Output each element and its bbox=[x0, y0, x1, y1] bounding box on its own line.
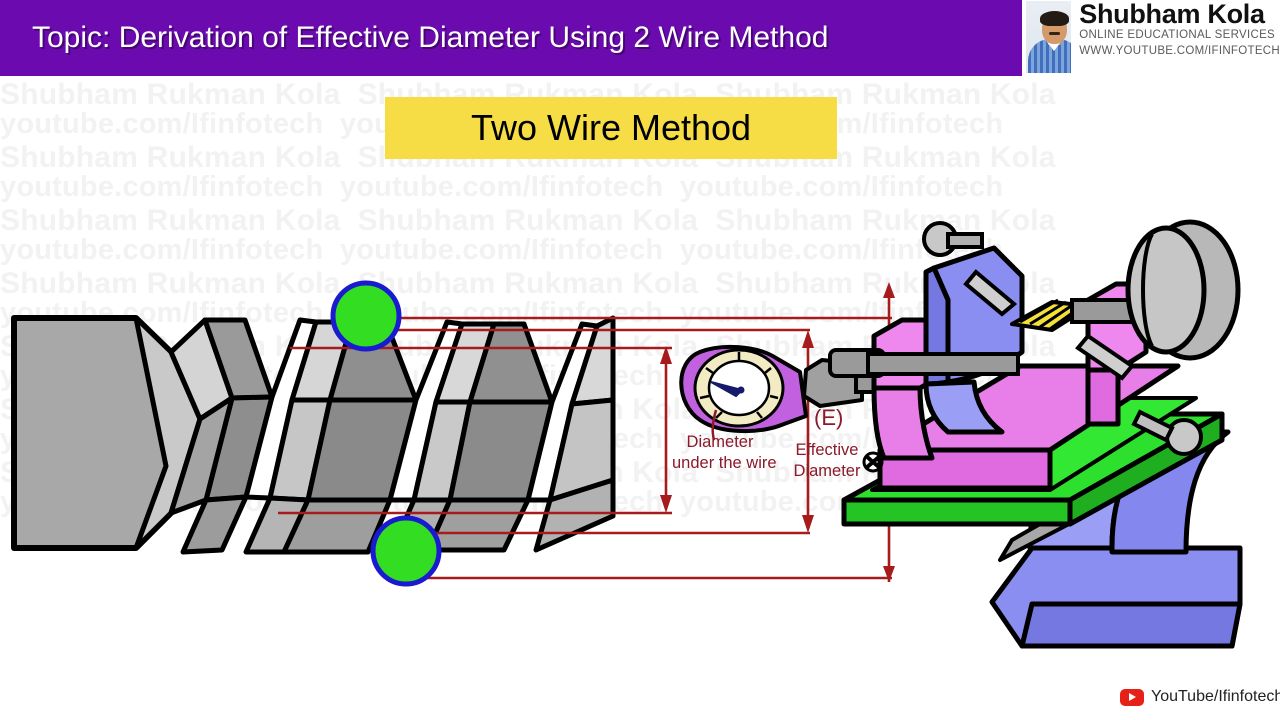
youtube-play-icon bbox=[1120, 689, 1144, 706]
gauge-needle-pivot bbox=[738, 387, 745, 394]
topic-header-bar: Topic: Derivation of Effective Diameter … bbox=[0, 0, 1022, 76]
dimension-label-effective-diameter: Effective Diameter bbox=[784, 440, 870, 481]
dimension-label-line1: Effective bbox=[784, 440, 870, 461]
slide-canvas: Shubham Rukman Kola Shubham Rukman Kola … bbox=[0, 0, 1280, 720]
brand-tagline: ONLINE EDUCATIONAL SERVICES bbox=[1079, 28, 1280, 44]
topic-header-inner: Topic: Derivation of Effective Diameter … bbox=[6, 6, 1016, 70]
brand-block: Shubham Kola ONLINE EDUCATIONAL SERVICES… bbox=[1022, 0, 1280, 74]
presenter-portrait-icon bbox=[1026, 1, 1071, 73]
dimension-label-line1: Diameter bbox=[672, 432, 768, 453]
brand-name: Shubham Kola bbox=[1079, 1, 1280, 28]
slide-title-plate: Two Wire Method bbox=[385, 97, 837, 159]
threaded-screw-section bbox=[14, 318, 613, 552]
table-front-edge bbox=[844, 500, 1070, 524]
handwheel-face[interactable] bbox=[1128, 228, 1204, 352]
youtube-channel-text: YouTube/Ifinfotech bbox=[1151, 688, 1280, 706]
base-plinth-front bbox=[1022, 604, 1240, 646]
brand-text-group: Shubham Kola ONLINE EDUCATIONAL SERVICES… bbox=[1079, 0, 1280, 59]
upper-wire bbox=[333, 283, 399, 349]
left-anvil-pillar bbox=[874, 388, 932, 458]
clamp-knob-ball[interactable] bbox=[1167, 420, 1201, 454]
arrowhead-down bbox=[802, 515, 814, 533]
dimension-label-diameter-under-wire: Diameter under the wire bbox=[672, 432, 768, 473]
dimension-label-line2: under the wire bbox=[672, 453, 768, 474]
workpiece-rod bbox=[868, 354, 1018, 374]
brand-website: WWW.YOUTUBE.COM/IFINFOTECH bbox=[1079, 44, 1280, 60]
youtube-channel-badge[interactable]: YouTube/Ifinfotech bbox=[1120, 688, 1280, 706]
right-anvil-pillar bbox=[1088, 370, 1118, 424]
arrowhead-up bbox=[802, 330, 814, 348]
arrowhead-down bbox=[883, 566, 895, 582]
lower-wire bbox=[373, 518, 439, 584]
floating-carriage-micrometer bbox=[830, 222, 1240, 646]
dimension-label-line2: Diameter bbox=[784, 461, 870, 482]
adjust-knob-stem[interactable] bbox=[948, 234, 982, 247]
arrowhead-down bbox=[660, 495, 672, 513]
topic-title-text: Topic: Derivation of Effective Diameter … bbox=[6, 21, 828, 55]
dimension-tag-effective-diameter: (E) bbox=[814, 404, 843, 432]
arrowhead-up bbox=[883, 282, 895, 298]
dial-indicator-gauge bbox=[681, 347, 806, 440]
slide-title-text: Two Wire Method bbox=[471, 107, 751, 149]
